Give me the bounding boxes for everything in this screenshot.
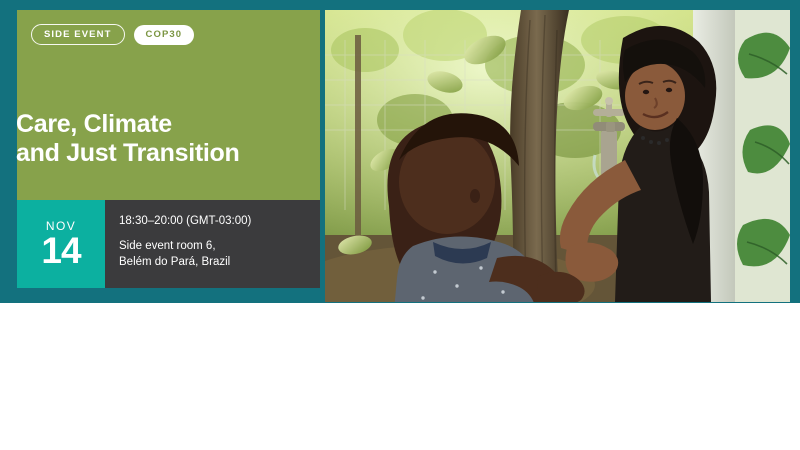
event-photo — [325, 10, 790, 302]
partner-logo-bar: UN trade & development UNCTAD — [0, 303, 800, 450]
event-venue: Side event room 6, Belém do Pará, Brazil — [119, 239, 306, 271]
event-time: 18:30–20:00 (GMT-03:00) — [119, 215, 306, 228]
event-title-line-1: Care, Climate — [16, 110, 172, 138]
event-venue-line-1: Side event room 6, — [119, 239, 306, 255]
event-venue-line-2: Belém do Pará, Brazil — [119, 255, 306, 271]
event-title-line-2: and Just Transition — [16, 139, 301, 168]
date-day: 14 — [41, 234, 80, 268]
badge-side-event[interactable]: SIDE EVENT — [31, 24, 125, 45]
event-info-card: 18:30–20:00 (GMT-03:00) Side event room … — [105, 200, 320, 288]
green-title-panel: SIDE EVENT COP30 — [17, 10, 320, 200]
badge-cop30[interactable]: COP30 — [134, 25, 195, 45]
hero-section: SIDE EVENT COP30 Care, Climate and Just … — [0, 0, 800, 303]
badge-row: SIDE EVENT COP30 — [31, 24, 194, 45]
event-banner: SIDE EVENT COP30 Care, Climate and Just … — [0, 0, 800, 450]
event-title: Care, Climate and Just Transition — [16, 110, 301, 168]
date-card: NOV 14 — [17, 200, 105, 288]
